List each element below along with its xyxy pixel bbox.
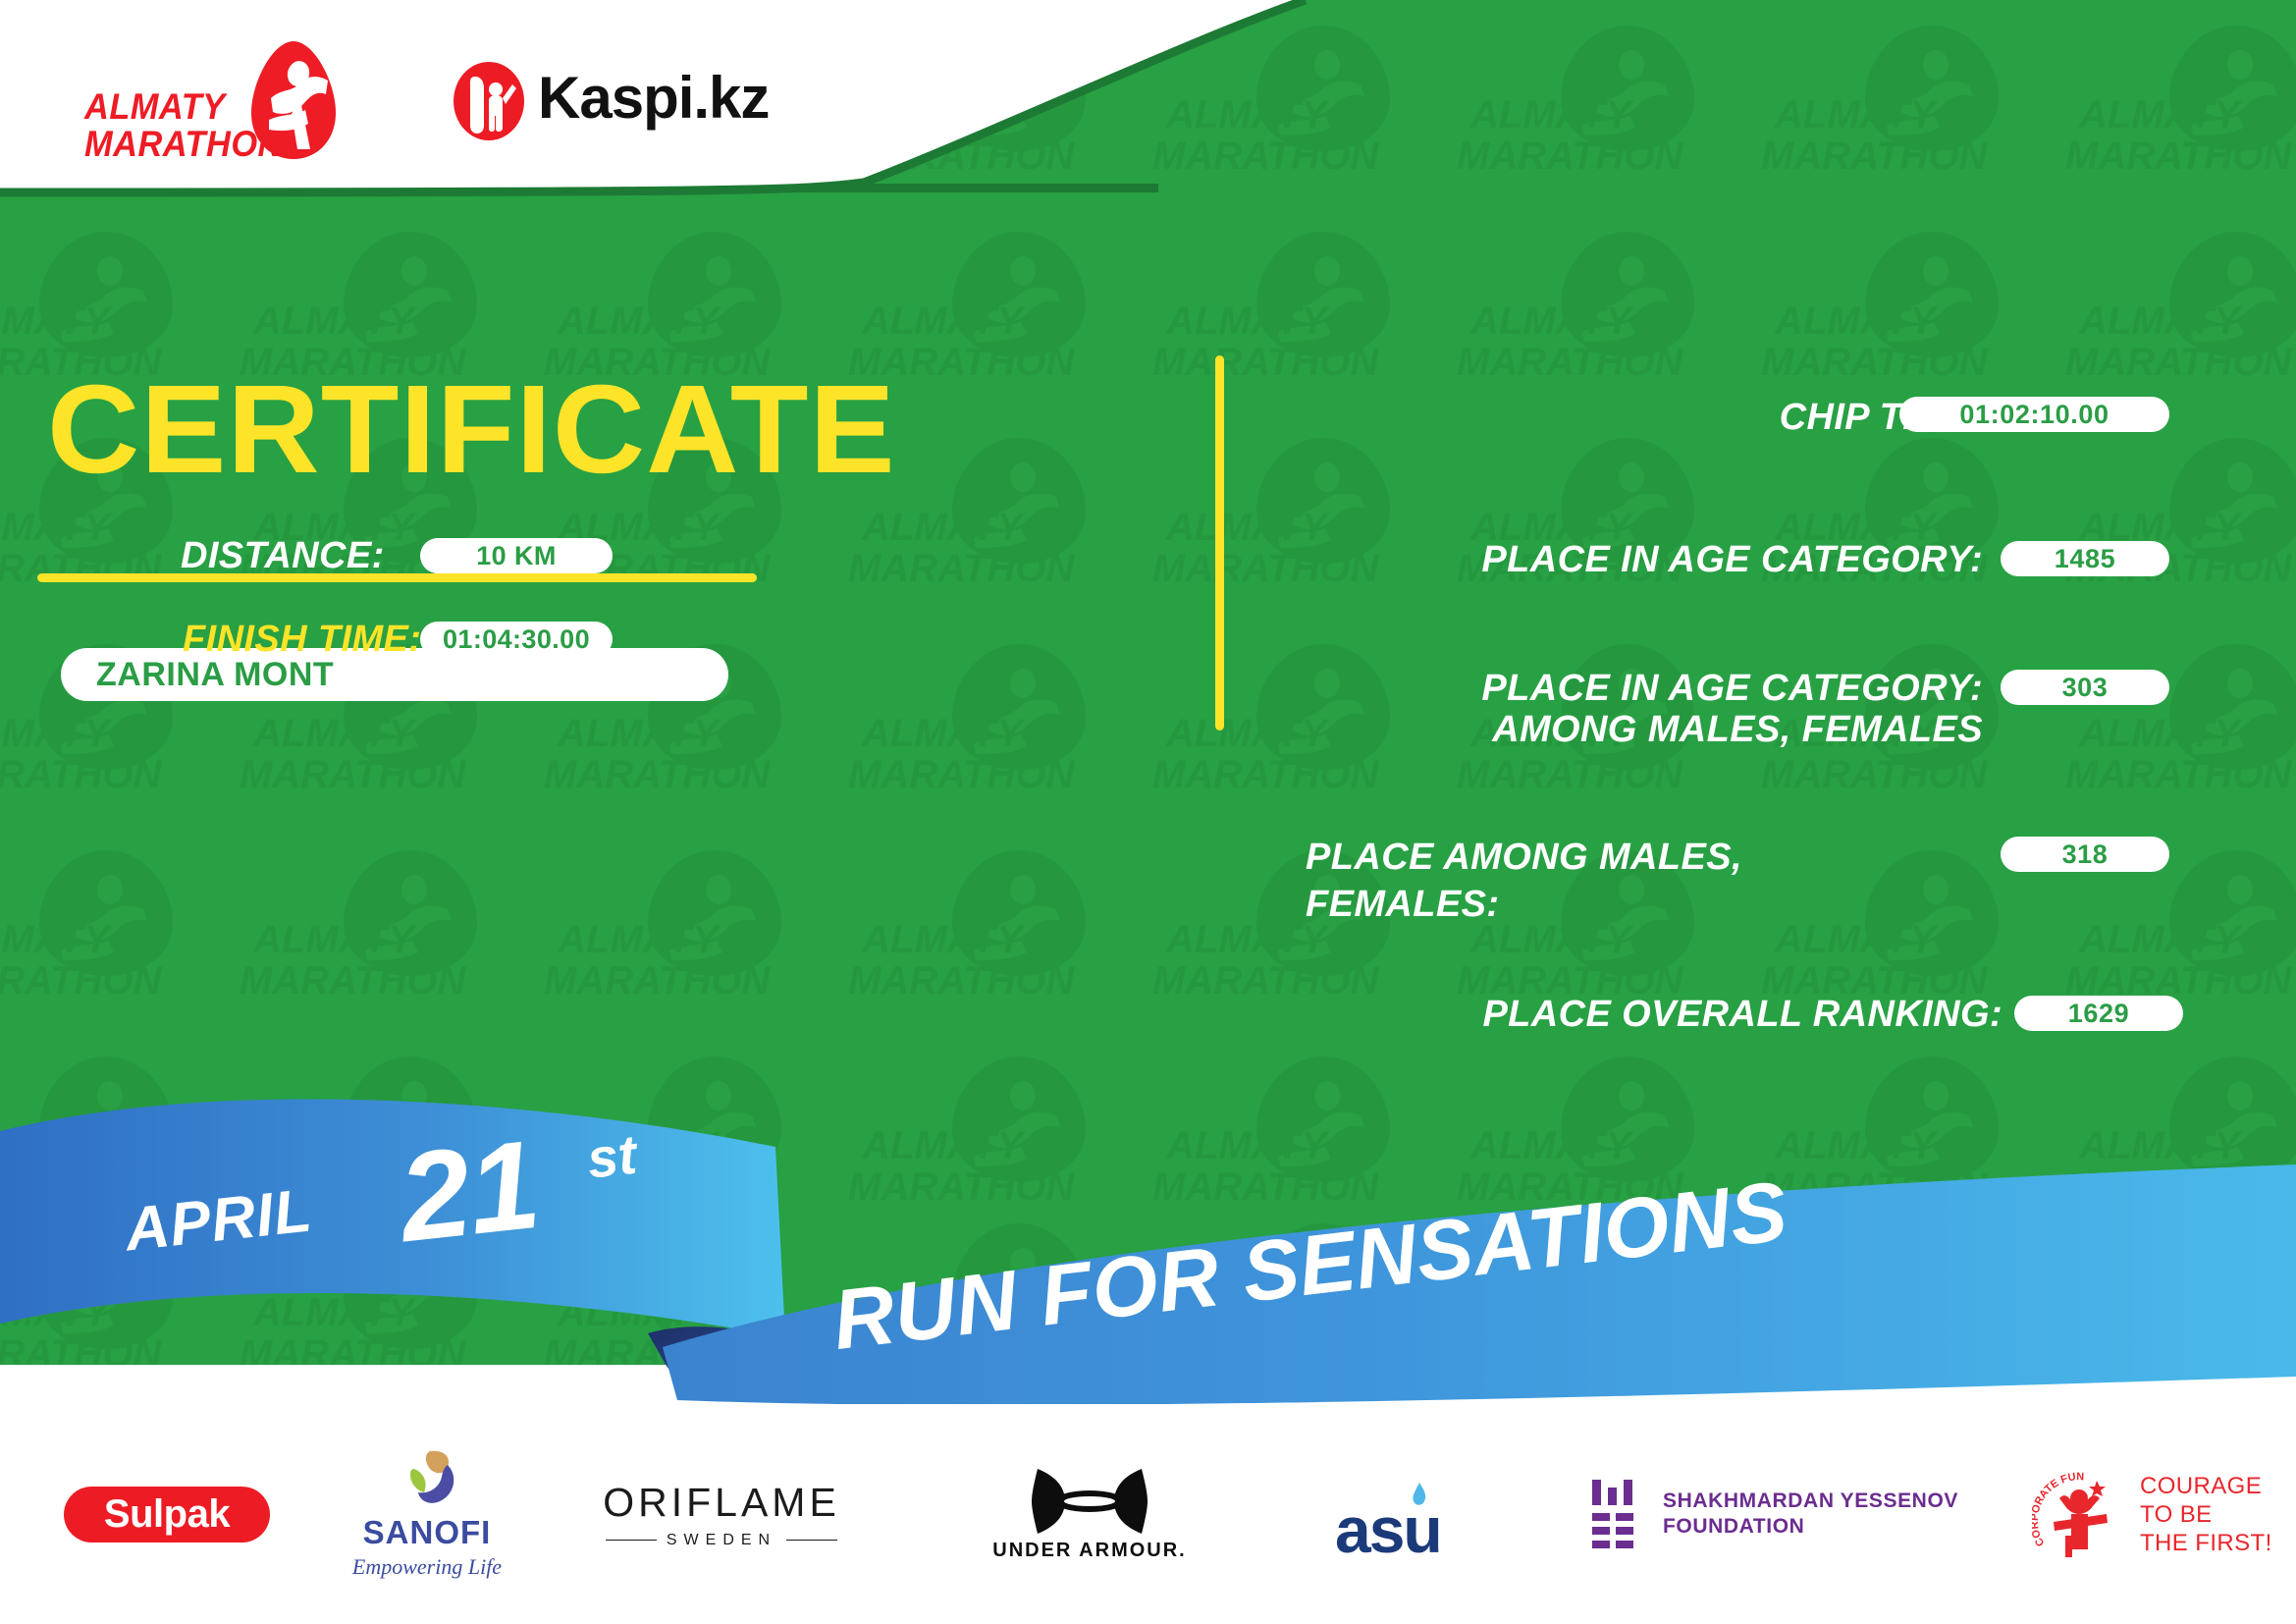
oriflame-rule-left	[606, 1540, 657, 1542]
finish-time-value: 01:04:30.00	[443, 624, 590, 655]
courage-first-logo: CORPORATE FUND COURAGE TO BE THE FIRST!	[2032, 1467, 2272, 1561]
chip-time-label: CHIP TIME:	[1306, 397, 1983, 438]
yessenov-line1: SHAKHMARDAN YESSENOV	[1663, 1489, 1958, 1514]
kaspi-people-icon	[452, 61, 526, 141]
asu-droplet-icon	[1406, 1483, 1431, 1508]
under-armour-wordmark: UNDER ARMOUR.	[991, 1540, 1188, 1562]
sponsor-courage-first: CORPORATE FUND COURAGE TO BE THE FIRST!	[2032, 1404, 2287, 1624]
sponsor-asu: asu	[1315, 1404, 1531, 1624]
courage-line3: THE FIRST!	[2140, 1529, 2272, 1557]
oriflame-rule-right	[786, 1540, 837, 1542]
place-age-category-gender-label-line2: AMONG MALES, FEMALES	[1306, 709, 1983, 750]
almaty-marathon-wordmark: ALMATY MARATHON	[84, 88, 261, 163]
chip-time-value-pill: 01:02:10.00	[1899, 397, 2169, 432]
kaspi-logo: Kaspi.kz	[452, 61, 736, 144]
sponsor-sulpak: Sulpak	[54, 1404, 280, 1624]
place-age-category-gender-value: 303	[2062, 673, 2109, 703]
yessenov-mark-icon	[1590, 1480, 1641, 1548]
courage-runner-icon: CORPORATE FUND	[2032, 1467, 2126, 1561]
sulpak-wordmark: Sulpak	[104, 1492, 230, 1537]
courage-line2: TO BE	[2140, 1500, 2272, 1529]
oriflame-sub: SWEDEN	[667, 1532, 776, 1549]
overall-ranking-value: 1629	[2068, 999, 2129, 1029]
sanofi-tagline: Empowering Life	[329, 1554, 525, 1580]
finish-time-label: FINISH TIME:	[183, 619, 421, 661]
sanofi-bird-icon	[391, 1449, 463, 1512]
courage-first-wordmark: COURAGE TO BE THE FIRST!	[2140, 1472, 2272, 1557]
header-bottom-band	[0, 184, 1158, 192]
place-among-gender-value-pill: 318	[2001, 837, 2169, 872]
overall-ranking-label: PLACE OVERALL RANKING:	[1306, 994, 2002, 1035]
oriflame-logo: ORIFLAME SWEDEN	[594, 1480, 849, 1549]
certificate-page: ALMATY MARATHON	[0, 0, 2296, 1624]
under-armour-icon	[1032, 1467, 1148, 1536]
place-age-category-value: 1485	[2055, 544, 2115, 574]
place-age-category-gender-label-line1: PLACE IN AGE CATEGORY:	[1306, 668, 1983, 709]
sponsor-oriflame: ORIFLAME SWEDEN	[560, 1404, 883, 1624]
ribbon-day: 21	[393, 1112, 545, 1271]
place-among-gender-label-line1: PLACE AMONG MALES,	[1306, 837, 1983, 878]
participant-name: ZARINA MONT	[96, 656, 334, 694]
page-title: CERTIFICATE	[47, 376, 896, 484]
vertical-divider	[1215, 355, 1224, 731]
under-armour-logo: UNDER ARMOUR.	[991, 1467, 1188, 1562]
courage-line1: COURAGE	[2140, 1472, 2272, 1500]
sponsor-bar: Sulpak SANOFI Empowering Life ORIFLAME S…	[0, 1404, 2296, 1624]
place-age-category-value-pill: 1485	[2001, 541, 2169, 576]
oriflame-wordmark: ORIFLAME	[594, 1480, 849, 1526]
sponsor-yessenov: SHAKHMARDAN YESSENOV FOUNDATION	[1590, 1404, 1983, 1624]
sulpak-logo: Sulpak	[64, 1487, 270, 1543]
almaty-marathon-logo: ALMATY MARATHON	[84, 39, 389, 157]
finish-time-value-pill: 01:04:30.00	[420, 622, 613, 657]
almaty-line1: ALMATY	[84, 88, 248, 126]
kaspi-wordmark: Kaspi.kz	[538, 64, 769, 132]
sanofi-wordmark: SANOFI	[329, 1514, 525, 1551]
place-age-category-label: PLACE IN AGE CATEGORY:	[1306, 539, 1983, 580]
asu-logo: asu	[1335, 1467, 1512, 1562]
place-among-gender-value: 318	[2062, 839, 2109, 870]
distance-value-pill: 10 KM	[420, 538, 613, 573]
yessenov-wordmark: SHAKHMARDAN YESSENOV FOUNDATION	[1663, 1489, 1958, 1540]
chip-time-value: 01:02:10.00	[1959, 400, 2109, 430]
yessenov-logo: SHAKHMARDAN YESSENOV FOUNDATION	[1590, 1480, 1958, 1548]
distance-value: 10 KM	[476, 541, 557, 571]
distance-label: DISTANCE:	[181, 535, 385, 577]
sponsor-under-armour: UNDER ARMOUR.	[972, 1404, 1207, 1624]
ribbon-day-suffix: st	[584, 1122, 640, 1191]
title-underline	[37, 573, 757, 582]
overall-ranking-value-pill: 1629	[2014, 996, 2183, 1031]
yessenov-line2: FOUNDATION	[1663, 1514, 1958, 1540]
sponsor-sanofi: SANOFI Empowering Life	[314, 1404, 540, 1624]
sanofi-logo: SANOFI Empowering Life	[329, 1449, 525, 1580]
almaty-line2: MARATHON	[84, 126, 248, 163]
place-among-gender-label-line2: FEMALES:	[1306, 884, 1983, 925]
place-age-category-gender-value-pill: 303	[2001, 670, 2169, 705]
